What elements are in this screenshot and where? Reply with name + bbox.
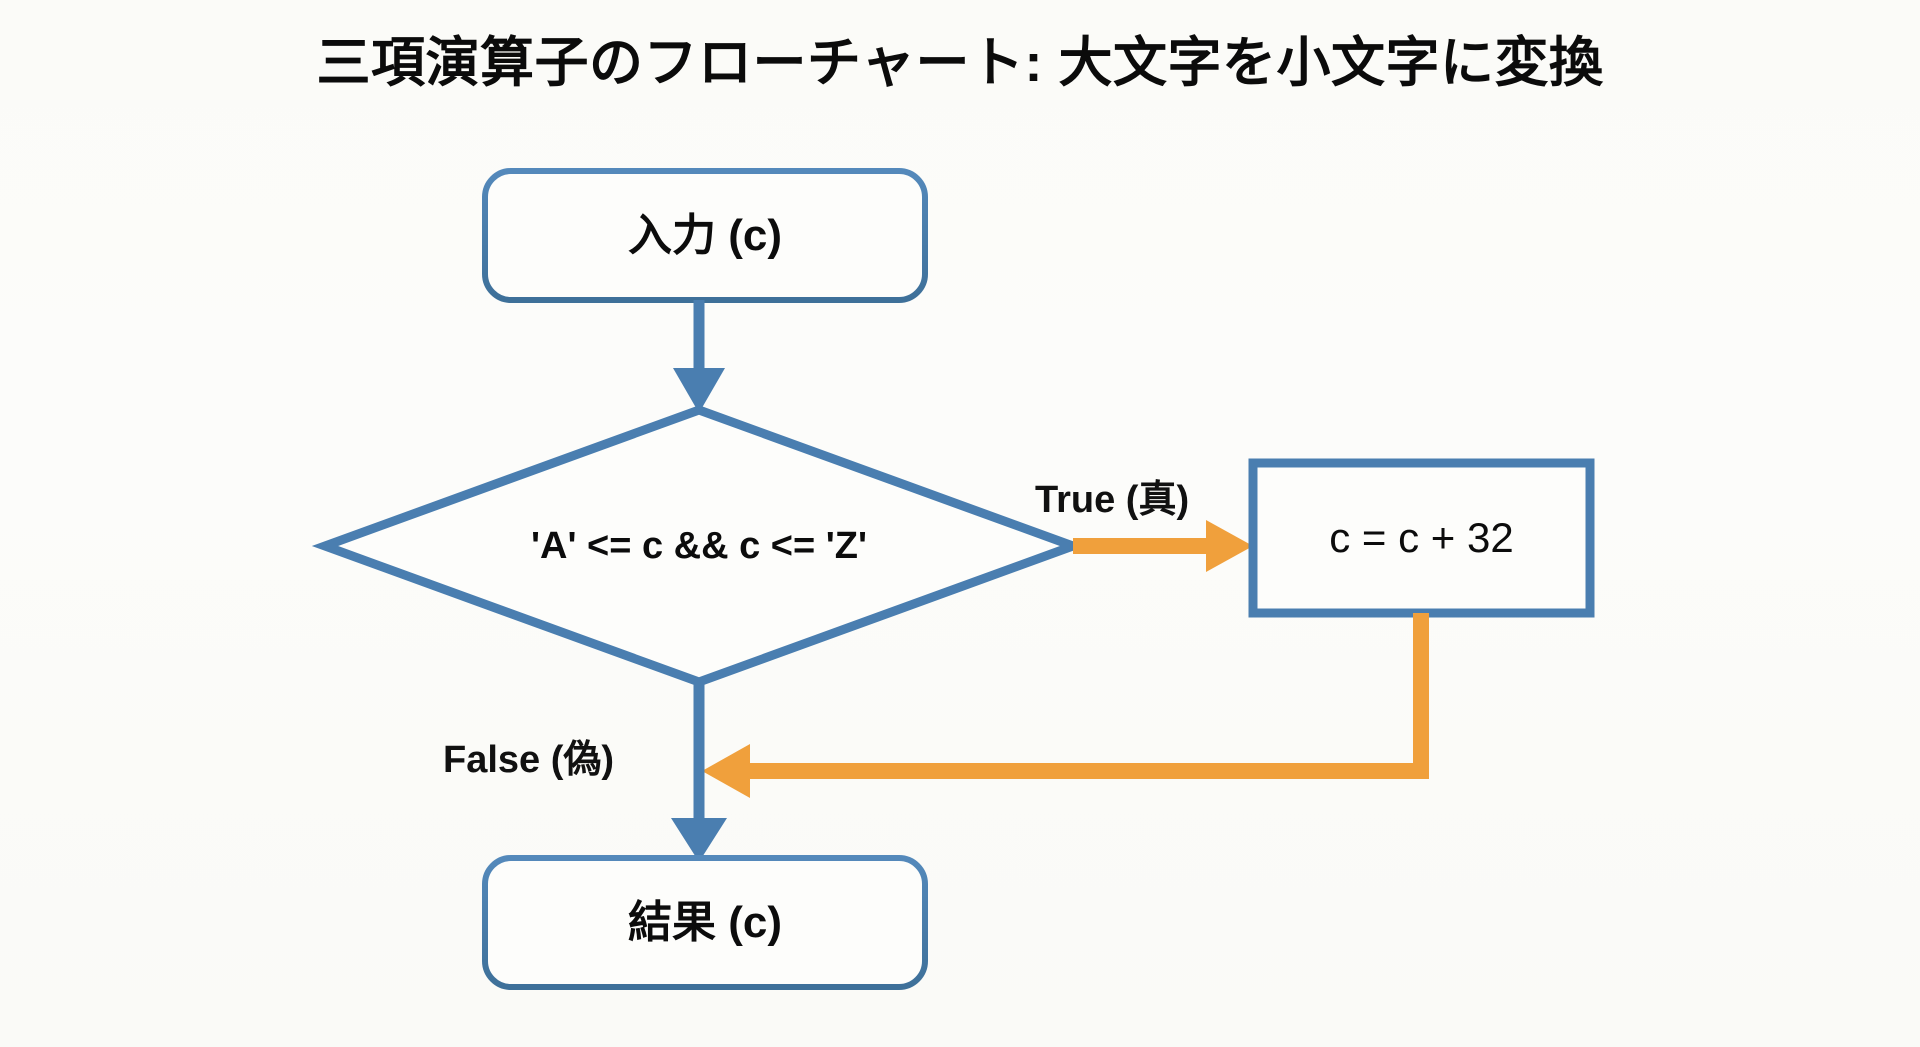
edge-input-to-decision	[673, 300, 725, 413]
flowchart-graphics	[0, 0, 1920, 1047]
node-result[interactable]	[485, 858, 925, 987]
edge-decision-true	[1073, 520, 1253, 572]
node-input[interactable]	[485, 171, 925, 300]
page-title: 三項演算子のフローチャート: 大文字を小文字に変換	[0, 18, 1920, 97]
node-process[interactable]	[1253, 463, 1590, 613]
node-decision[interactable]	[470, 440, 930, 652]
flowchart-canvas: 三項演算子のフローチャート: 大文字を小文字に変換	[0, 0, 1920, 1047]
